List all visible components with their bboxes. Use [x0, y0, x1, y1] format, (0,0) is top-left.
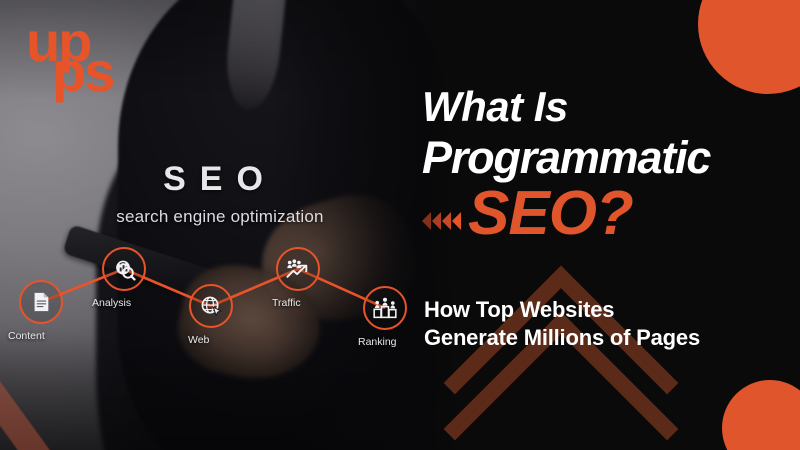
document-icon: [30, 291, 52, 313]
diagram-node-content[interactable]: [19, 280, 63, 324]
chevron-left-icon-2: [432, 212, 441, 230]
subheadline-line-2: Generate Millions of Pages: [424, 324, 796, 352]
diagram-node-traffic[interactable]: [276, 247, 320, 291]
chevron-accent-group: [422, 212, 462, 230]
headline-line-3: SEO?: [468, 183, 633, 245]
headline-line-1: What Is: [422, 86, 794, 128]
podium-people-icon: [373, 297, 397, 319]
decorative-circle-top-right: [698, 0, 800, 94]
globe-cursor-icon: [200, 295, 223, 318]
chevron-left-icon-3: [442, 212, 451, 230]
title-panel: What Is Programmatic SEO? How Top Websit…: [400, 0, 800, 450]
headline-line-2: Programmatic: [422, 134, 794, 181]
diagram-node-web[interactable]: [189, 284, 233, 328]
diagram-label-content: Content: [8, 330, 45, 342]
diagram-label-ranking: Ranking: [358, 336, 397, 348]
headline-seo-row: SEO?: [422, 183, 794, 245]
diagram-label-web: Web: [188, 334, 209, 346]
brand-logo-line2: ps: [52, 44, 113, 100]
headline-block: What Is Programmatic SEO?: [422, 86, 794, 245]
seo-wordmark-block: SEO search engine optimization: [70, 160, 370, 227]
diagram-label-traffic: Traffic: [272, 297, 301, 309]
seo-wordmark-subtitle: search engine optimization: [70, 207, 370, 227]
banner-canvas: up ps SEO search engine optimization Con…: [0, 0, 800, 450]
seo-process-diagram: Content Analysis Web: [0, 236, 420, 376]
subheadline-block: How Top Websites Generate Millions of Pa…: [424, 296, 796, 352]
chevron-left-icon-4: [452, 212, 461, 230]
people-growth-arrow-icon: [286, 258, 310, 280]
decorative-circle-bottom-right: [722, 380, 800, 450]
brand-logo[interactable]: up ps: [26, 14, 146, 100]
decorative-chevron-group: [478, 356, 678, 450]
subheadline-line-1: How Top Websites: [424, 296, 796, 324]
diagram-node-analysis[interactable]: [102, 247, 146, 291]
diagram-label-analysis: Analysis: [92, 297, 131, 309]
seo-wordmark: SEO: [70, 160, 370, 199]
magnifier-chart-icon: [113, 258, 136, 281]
chevron-left-icon-1: [422, 212, 431, 230]
